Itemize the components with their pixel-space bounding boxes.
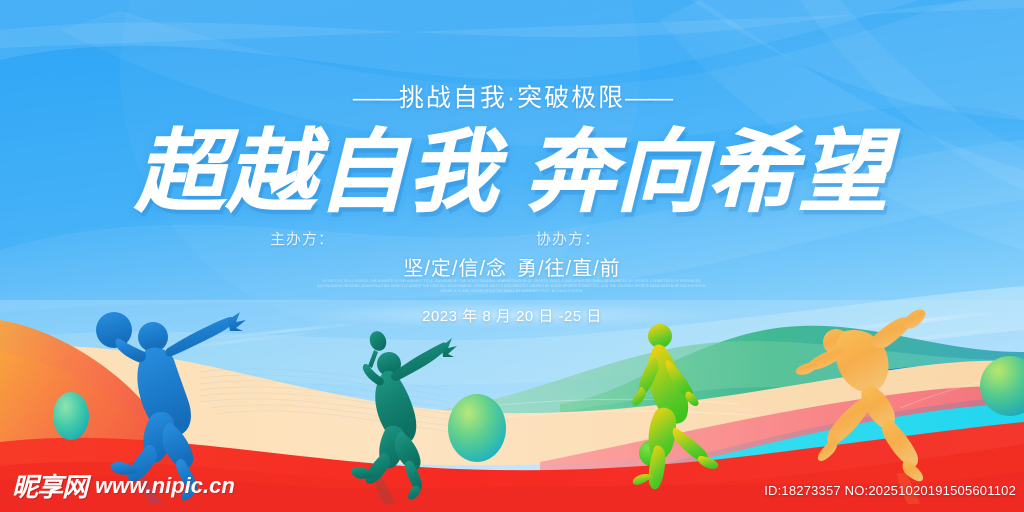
subtitle-dash-left: —— [353,84,399,112]
organizer-row: 主办方： 协办方： [0,228,1024,250]
subtitle-dash-right: —— [625,84,671,112]
event-date-text: 2023 年 8 月 20 日 -25 日 [0,305,1024,326]
main-title-part-2: 奔向希望 [525,123,889,223]
watermark-brand[interactable]: 昵享网 www.nipic.cn [12,467,235,504]
poster-canvas: ——挑战自我·突破极限—— 超越自我奔向希望 主办方： 协办方： 坚/定/信/念… [0,0,1024,512]
subtitle-text: 挑战自我·突破极限 [399,84,625,112]
poster-subtitle: ——挑战自我·突破极限—— [0,78,1024,114]
organizer-label: 主办方： [270,228,334,249]
watermark-url-text: www.nipic.cn [95,473,235,499]
slogan-part-1: 坚/定/信/念 [403,258,507,280]
co-organizer-label: 协办方： [536,228,600,249]
main-title-part-1: 超越自我 [135,123,499,223]
watermark-bar: 昵享网 www.nipic.cn ID:18273357 NO:20251020… [0,468,1024,512]
slogan-part-2: 勇/往/直/前 [517,258,621,280]
date-band: 2023 年 8 月 20 日 -25 日 [0,303,1024,327]
poster-main-title: 超越自我奔向希望 [0,124,1024,222]
watermark-id-text: ID:18273357 NO:20251020191505601102 [764,483,1016,498]
poster-text-content: ——挑战自我·突破极限—— 超越自我奔向希望 主办方： 协办方： 坚/定/信/念… [0,0,1024,512]
fineprint-paragraph: IN THE FIVE SKILL LEVELS, THE ATHLETE IS… [312,279,712,295]
watermark-logo-text: 昵享网 [12,467,87,504]
poster-slogan: 坚/定/信/念勇/往/直/前 [0,252,1024,281]
